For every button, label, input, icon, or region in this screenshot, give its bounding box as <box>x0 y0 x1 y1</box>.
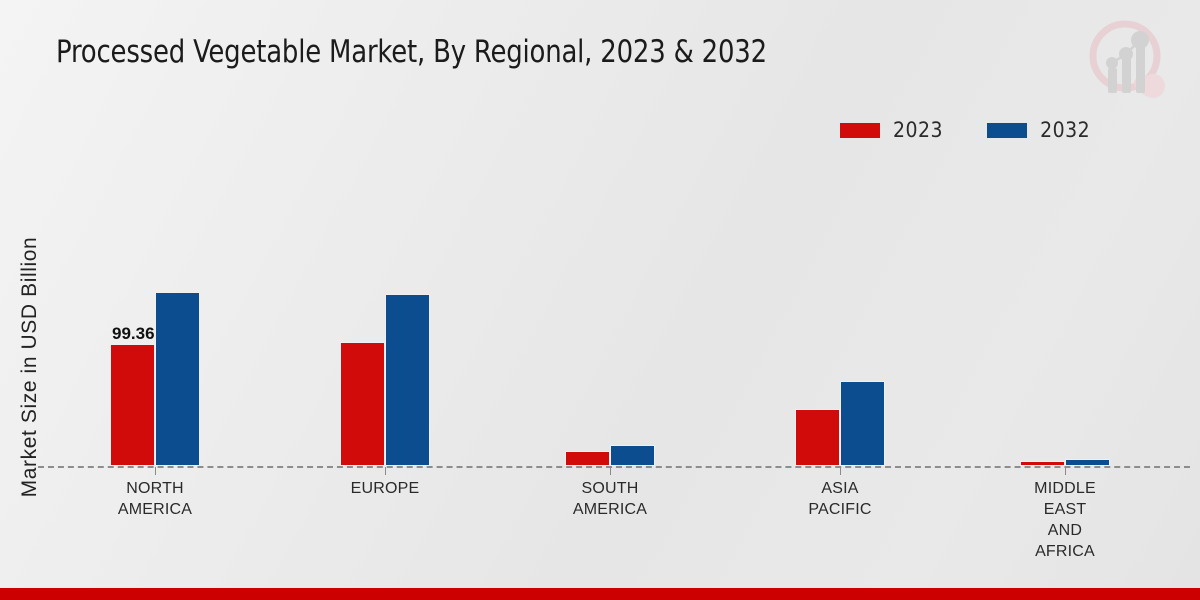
category-label-line: AMERICA <box>525 499 695 520</box>
category-label-line: AND <box>980 520 1150 541</box>
axis-tick <box>155 467 156 475</box>
bar-europe-2032[interactable] <box>385 294 430 466</box>
bar-middle-east-and-africa-2023[interactable] <box>1020 461 1065 466</box>
axis-tick <box>1065 467 1066 475</box>
category-label-north-america: NORTH AMERICA <box>70 478 240 520</box>
axis-tick <box>610 467 611 475</box>
bar-north-america-2032[interactable] <box>155 292 200 466</box>
axis-tick <box>385 467 386 475</box>
category-label-europe: EUROPE <box>300 478 470 499</box>
category-label-middle-east-and-africa: MIDDLE EAST AND AFRICA <box>980 478 1150 562</box>
category-label-line: AMERICA <box>70 499 240 520</box>
bar-asia-pacific-2032[interactable] <box>840 381 885 466</box>
bar-middle-east-and-africa-2032[interactable] <box>1065 459 1110 466</box>
bar-north-america-2023[interactable] <box>110 344 155 466</box>
category-label-line: PACIFIC <box>755 499 925 520</box>
bar-asia-pacific-2023[interactable] <box>795 409 840 466</box>
chart-canvas: Processed Vegetable Market, By Regional,… <box>0 0 1200 600</box>
bar-europe-2023[interactable] <box>340 342 385 466</box>
category-label-line: EAST <box>980 499 1150 520</box>
axis-tick <box>840 467 841 475</box>
category-label-line: MIDDLE <box>980 478 1150 499</box>
plot-area: 99.36 NORTH AMERICA EUROPE SOUTH AMERICA… <box>0 0 1200 600</box>
category-label-line: SOUTH <box>525 478 695 499</box>
category-label-south-america: SOUTH AMERICA <box>525 478 695 520</box>
category-label-asia-pacific: ASIA PACIFIC <box>755 478 925 520</box>
category-label-line: ASIA <box>755 478 925 499</box>
bar-south-america-2023[interactable] <box>565 451 610 466</box>
bar-south-america-2032[interactable] <box>610 445 655 466</box>
value-label-north-america-2023: 99.36 <box>112 324 155 344</box>
footer-accent-bar <box>0 588 1200 600</box>
category-label-line: NORTH <box>70 478 240 499</box>
category-label-line: EUROPE <box>300 478 470 499</box>
baseline-axis <box>38 466 1190 468</box>
category-label-line: AFRICA <box>980 541 1150 562</box>
